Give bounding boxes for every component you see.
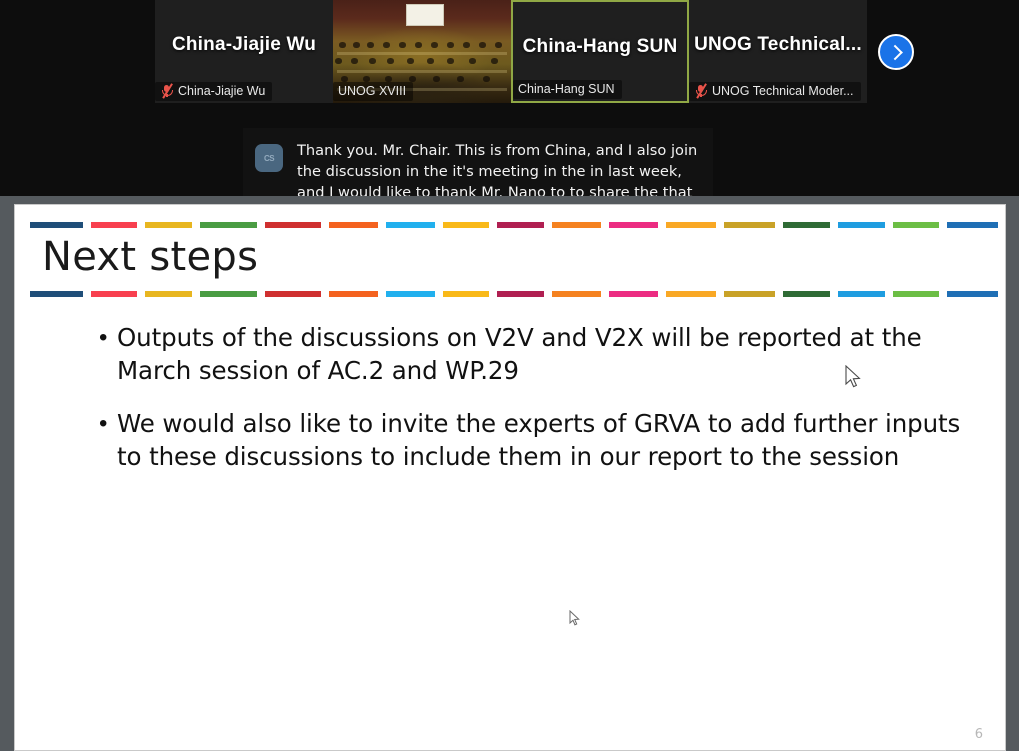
- accent-bar-segment: [329, 222, 378, 228]
- accent-bar-segment: [329, 291, 378, 297]
- accent-bar-segment: [200, 291, 257, 297]
- accent-bar-segment: [609, 291, 658, 297]
- presentation-slide[interactable]: Next steps •Outputs of the discussions o…: [14, 204, 1006, 751]
- accent-bar-segment: [30, 222, 83, 228]
- slide-bullet-list: •Outputs of the discussions on V2V and V…: [99, 321, 979, 493]
- participant-name-bar: China-Hang SUN: [513, 80, 622, 99]
- accent-bar-segment: [386, 291, 435, 297]
- bullet-marker: •: [99, 407, 117, 473]
- bullet-text: We would also like to invite the experts…: [117, 407, 979, 473]
- participant-name-label: UNOG Technical Moder...: [712, 84, 854, 98]
- accent-bar-segment: [838, 222, 885, 228]
- projection-screen: [406, 4, 444, 26]
- bullet-marker: •: [99, 321, 117, 387]
- accent-bar-segment: [91, 291, 138, 297]
- shared-screen-frame: Next steps •Outputs of the discussions o…: [0, 196, 1019, 751]
- participant-tile-unog-technical-moderator[interactable]: UNOG Technical... UNOG Technical Moder..…: [689, 0, 867, 103]
- accent-bar-segment: [783, 291, 830, 297]
- accent-bar-segment: [145, 222, 192, 228]
- participant-name-label: UNOG XVIII: [338, 84, 406, 98]
- accent-bar-segment: [145, 291, 192, 297]
- accent-bar-segment: [947, 291, 998, 297]
- accent-bar-segment: [91, 222, 138, 228]
- audience-row: [333, 58, 511, 65]
- accent-bar-segment: [893, 222, 940, 228]
- participant-name-bar: UNOG Technical Moder...: [689, 82, 861, 101]
- next-page-arrow-icon[interactable]: [878, 34, 914, 70]
- avatar: CS: [255, 144, 283, 172]
- accent-bar-segment: [497, 222, 544, 228]
- accent-bar-segment: [666, 291, 717, 297]
- participant-display-name: UNOG Technical...: [689, 34, 867, 56]
- slide-bullet: •We would also like to invite the expert…: [99, 407, 979, 473]
- accent-bar-segment: [386, 222, 435, 228]
- accent-bar-segment: [265, 222, 322, 228]
- accent-bar-segment: [666, 222, 717, 228]
- accent-bar-segment: [609, 222, 658, 228]
- accent-bar-segment: [497, 291, 544, 297]
- participant-display-name: China-Hang SUN: [513, 36, 687, 58]
- accent-bar-segment: [783, 222, 830, 228]
- accent-bar-segment: [265, 291, 322, 297]
- accent-bar-segment: [893, 291, 940, 297]
- accent-bar-segment: [443, 291, 490, 297]
- accent-bar-segment: [947, 222, 998, 228]
- participant-display-name: China-Jiajie Wu: [155, 34, 333, 56]
- accent-bar-segment: [443, 222, 490, 228]
- zoom-video-strip: China-Jiajie Wu China-Jiajie Wu: [0, 0, 1019, 103]
- participant-name-bar: China-Jiajie Wu: [155, 82, 272, 101]
- slide-title: Next steps: [42, 234, 258, 280]
- accent-bar-segment: [838, 291, 885, 297]
- chevron-right-icon: [887, 44, 903, 60]
- participant-tile-china-jiajie-wu[interactable]: China-Jiajie Wu China-Jiajie Wu: [155, 0, 333, 103]
- screen-root: China-Jiajie Wu China-Jiajie Wu: [0, 0, 1019, 751]
- accent-bar-segment: [30, 291, 83, 297]
- participant-name-label: China-Jiajie Wu: [178, 84, 265, 98]
- desk-row: [337, 52, 507, 55]
- desk-row: [337, 70, 507, 73]
- accent-bar-segment: [552, 291, 601, 297]
- accent-bar-segment: [724, 291, 775, 297]
- mic-muted-icon: [160, 84, 173, 98]
- participant-name-bar: UNOG XVIII: [333, 82, 413, 101]
- participant-tile-unog-xviii[interactable]: UNOG XVIII: [333, 0, 511, 103]
- accent-bar-segment: [724, 222, 775, 228]
- participant-name-label: China-Hang SUN: [518, 82, 615, 96]
- slide-page-number: 6: [975, 727, 983, 742]
- mic-muted-icon: [694, 84, 707, 98]
- accent-bar-top: [30, 222, 1006, 228]
- accent-bar-segment: [552, 222, 601, 228]
- audience-row: [333, 42, 511, 49]
- participant-tile-china-hang-sun[interactable]: China-Hang SUN China-Hang SUN: [511, 0, 689, 103]
- accent-bar-bottom: [30, 291, 1006, 297]
- accent-bar-segment: [200, 222, 257, 228]
